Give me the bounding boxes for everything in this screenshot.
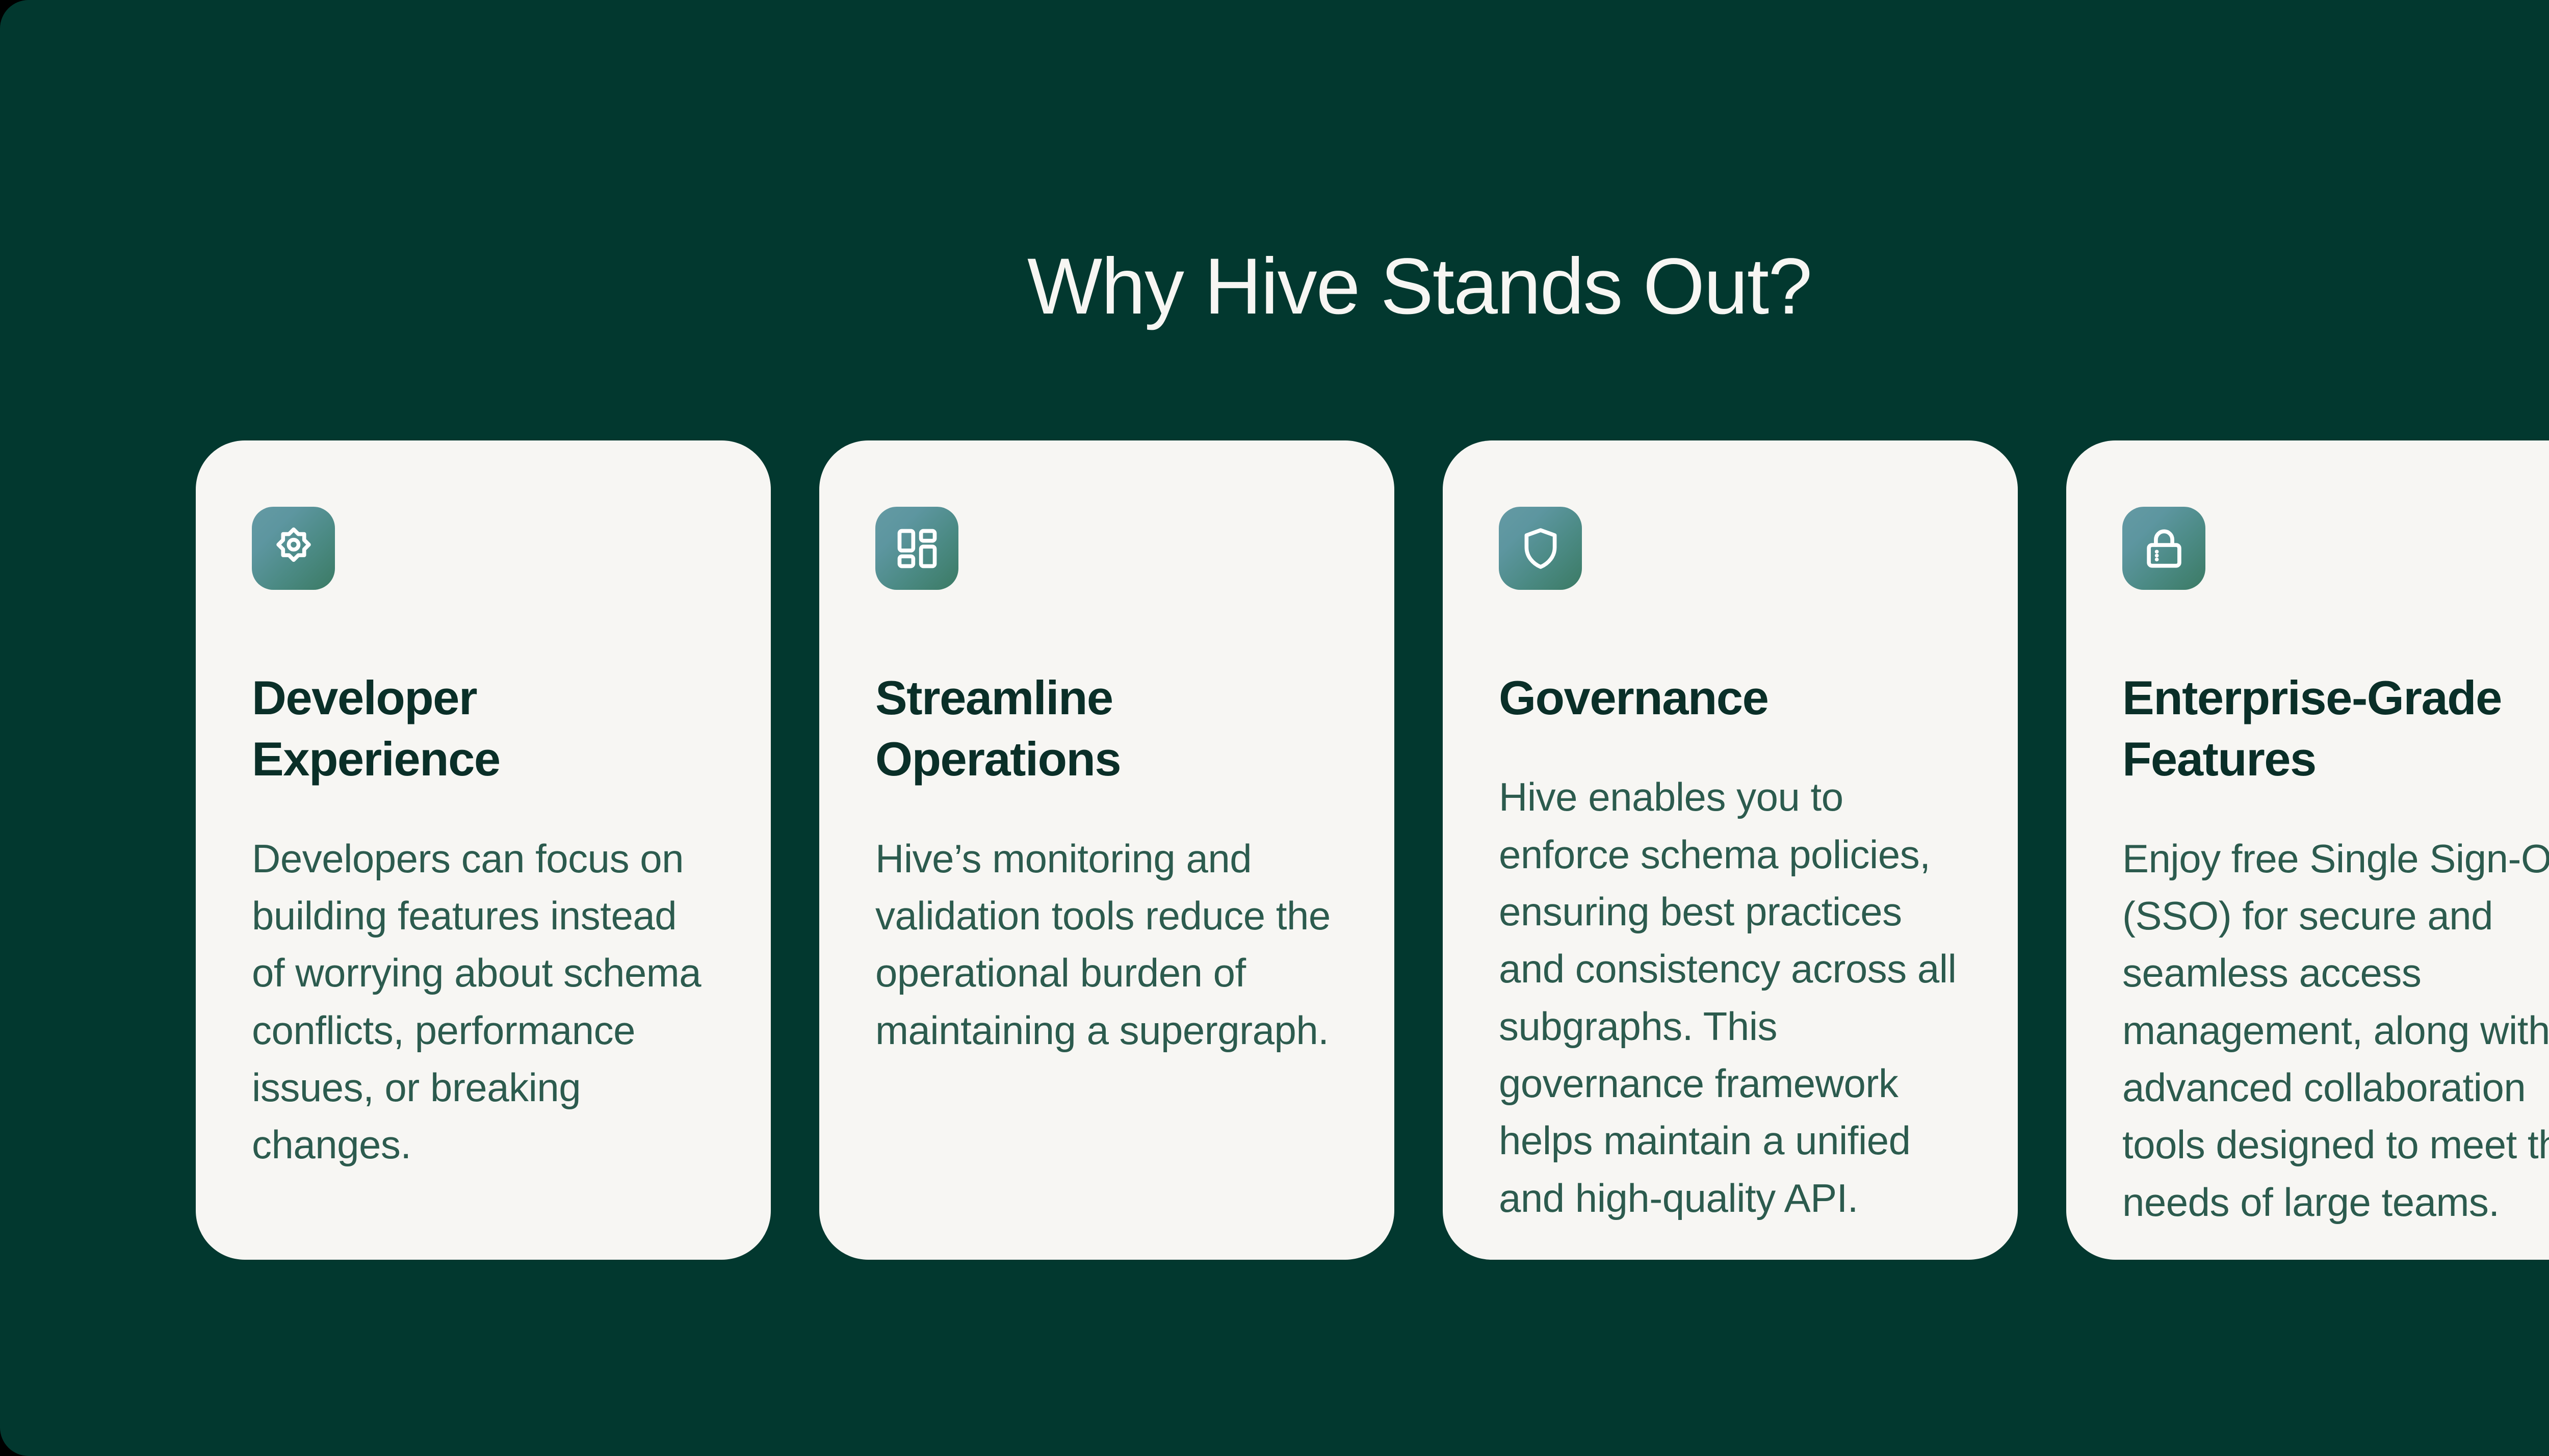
page-title: Why Hive Stands Out?	[0, 243, 2549, 331]
card-body: Developers can focus on building feature…	[252, 830, 715, 1174]
shield-icon	[1517, 525, 1564, 572]
feature-card-governance[interactable]: Governance Hive enables you to enforce s…	[1443, 440, 2018, 1260]
card-body: Enjoy free Single Sign-On (SSO) for secu…	[2122, 830, 2549, 1231]
feature-card-list: Developer Experience Developers can focu…	[196, 440, 2549, 1260]
card-body: Hive enables you to enforce schema polic…	[1499, 768, 1962, 1227]
feature-card-enterprise-grade-features[interactable]: Enterprise-Grade Features Enjoy free Sin…	[2066, 440, 2549, 1260]
lock-icon-tile	[2122, 507, 2205, 590]
card-title: Streamline Operations	[875, 667, 1338, 790]
lock-icon	[2141, 525, 2188, 572]
feature-card-streamline-operations[interactable]: Streamline Operations Hive’s monitoring …	[819, 440, 1394, 1260]
feature-section: Why Hive Stands Out? Developer Experienc…	[0, 0, 2549, 1456]
feature-card-developer-experience[interactable]: Developer Experience Developers can focu…	[196, 440, 771, 1260]
dashboard-grid-icon	[894, 525, 941, 572]
dashboard-grid-icon-tile	[875, 507, 958, 590]
card-title: Governance	[1499, 667, 1962, 729]
card-body: Hive’s monitoring and validation tools r…	[875, 830, 1338, 1059]
shield-icon-tile	[1499, 507, 1582, 590]
gear-icon-tile	[252, 507, 335, 590]
card-title: Developer Experience	[252, 667, 715, 790]
gear-icon	[270, 525, 317, 572]
card-title: Enterprise-Grade Features	[2122, 667, 2549, 790]
